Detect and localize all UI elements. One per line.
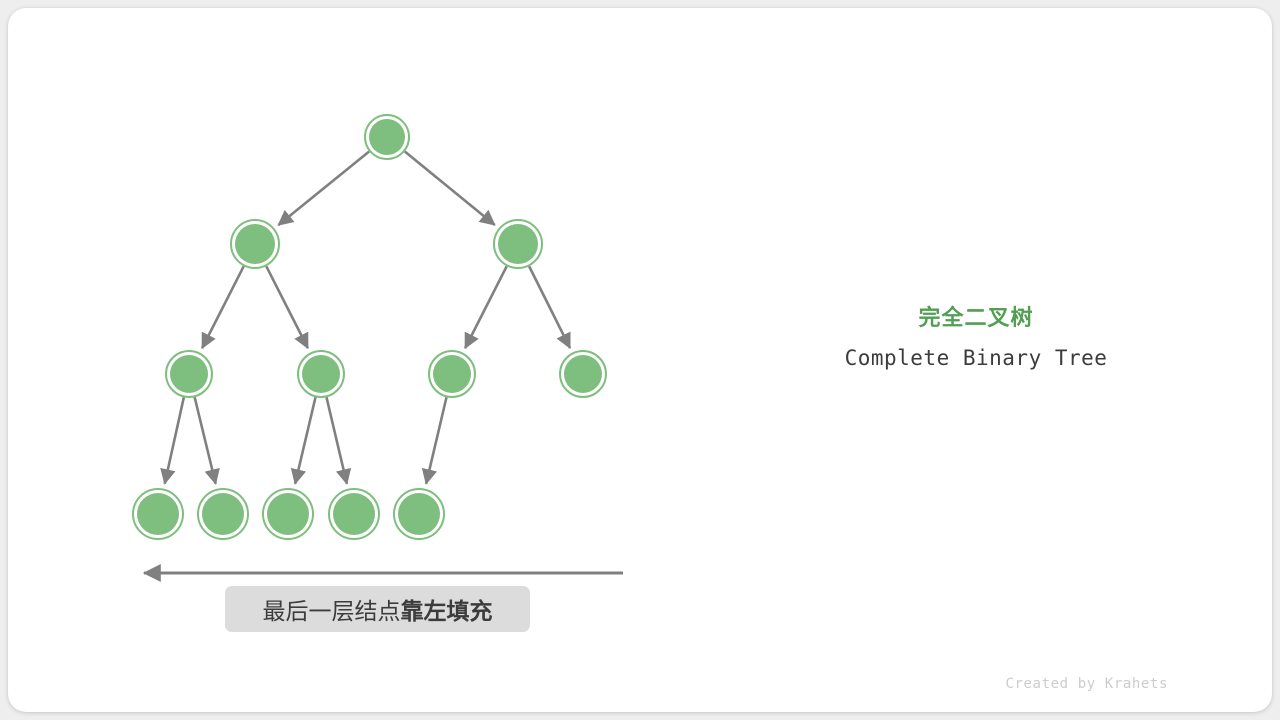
tree-edge (529, 266, 570, 348)
tree-edge (165, 397, 184, 483)
tree-edge (195, 397, 216, 484)
tree-edge (426, 397, 446, 483)
tree-node (235, 224, 275, 264)
legend-subtitle: Complete Binary Tree (776, 346, 1176, 370)
diagram-card: 完全二叉树 Complete Binary Tree 最后一层结点靠左填充 Cr… (8, 8, 1272, 712)
tree-node (433, 355, 471, 393)
tree-edge (405, 152, 495, 225)
credit-text: Created by Krahets (868, 676, 1168, 692)
tree-node (202, 493, 244, 535)
tree-node (267, 493, 309, 535)
tree-edge (295, 397, 315, 483)
caption-prefix: 最后一层结点 (263, 598, 401, 624)
tree-node (137, 493, 179, 535)
tree-edge (266, 266, 308, 348)
tree-node (498, 224, 538, 264)
tree-edge (465, 266, 507, 348)
tree-node (333, 493, 375, 535)
tree-edge (327, 397, 347, 483)
tree-node (398, 493, 440, 535)
tree-node (170, 355, 208, 393)
legend-title: 完全二叉树 (776, 300, 1176, 332)
tree-edge (278, 151, 369, 225)
caption-text: 最后一层结点靠左填充 (263, 592, 493, 626)
tree-edge (202, 266, 244, 348)
tree-nodes (133, 115, 606, 539)
tree-node (369, 119, 405, 155)
caption-badge: 最后一层结点靠左填充 (225, 586, 530, 632)
tree-node (302, 355, 340, 393)
tree-edges (165, 151, 570, 483)
tree-node (564, 355, 602, 393)
caption-emphasis: 靠左填充 (401, 598, 493, 624)
